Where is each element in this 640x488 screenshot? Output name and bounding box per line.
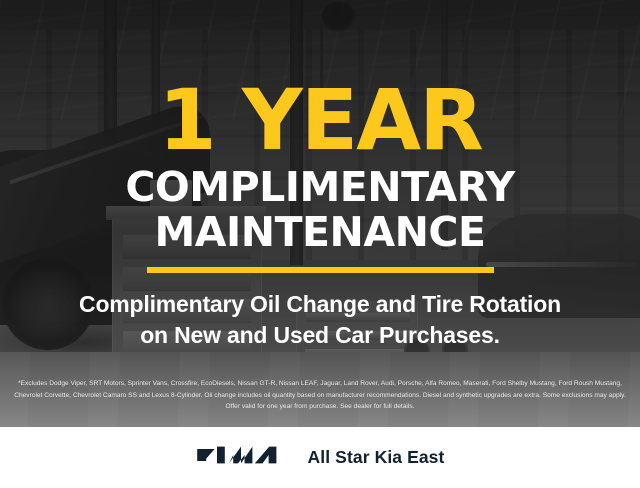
dealer-name: All Star Kia East bbox=[308, 447, 445, 468]
offer-line-1: Complimentary Oil Change and Tire Rotati… bbox=[79, 289, 561, 319]
hero-content: 1 YEAR COMPLIMENTARY MAINTENANCE Complim… bbox=[0, 0, 640, 427]
offer-line-2: on New and Used Car Purchases. bbox=[140, 320, 500, 350]
footer-bar: All Star Kia East bbox=[0, 427, 640, 488]
yellow-divider-rule bbox=[147, 267, 494, 273]
disclaimer-text: *Excludes Dodge Viper, SRT Motors, Sprin… bbox=[14, 378, 626, 413]
headline-complimentary: COMPLIMENTARY bbox=[125, 167, 514, 208]
hero-section: 1 YEAR COMPLIMENTARY MAINTENANCE Complim… bbox=[0, 0, 640, 427]
kia-logo bbox=[196, 443, 286, 472]
kia-maintenance-ad-banner: 1 YEAR COMPLIMENTARY MAINTENANCE Complim… bbox=[0, 0, 640, 488]
headline-year: 1 YEAR bbox=[158, 82, 482, 159]
headline-maintenance: MAINTENANCE bbox=[154, 212, 485, 253]
